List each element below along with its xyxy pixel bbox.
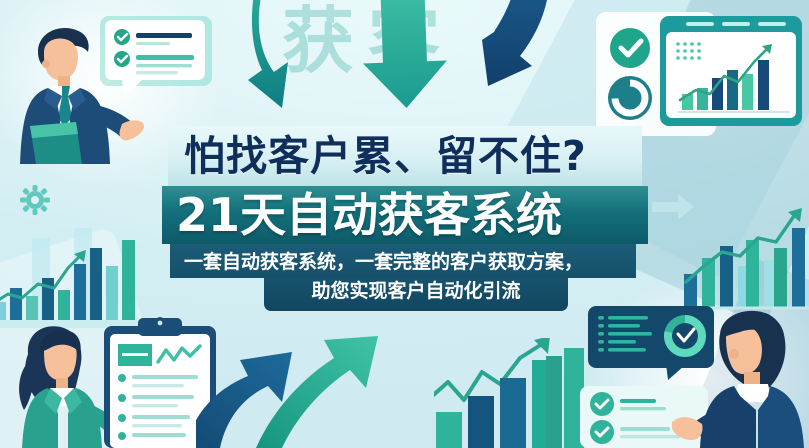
left-bar-chart (0, 200, 142, 330)
headline-band-question: 怕找客户累、留不住? (168, 126, 642, 186)
headline-band-main: 21天自动获客系统 (162, 186, 648, 244)
downward-arrows (230, 0, 560, 125)
subtitle-line-1: 一套自动获客系统，一套完整的客户获取方案， (180, 250, 626, 274)
subtitle-band-1: 一套自动获客系统，一套完整的客户获取方案， (170, 244, 636, 278)
businessman-back-illustration (672, 304, 809, 448)
subtitle-line-2: 助您实现客户自动化引流 (311, 280, 520, 304)
accent-bar (546, 356, 562, 448)
subtitle-band-2: 助您实现客户自动化引流 (264, 278, 568, 311)
right-arrow-icon (652, 190, 696, 224)
checklist-speech-bubble (98, 14, 214, 94)
promotional-poster: 获客 (0, 0, 809, 448)
headline-block: 怕找客户累、留不住? 21天自动获客系统 一套自动获客系统，一套完整的客户获取方… (168, 126, 642, 311)
headline-line-1: 怕找客户累、留不住? (184, 136, 587, 177)
upward-arrows (196, 320, 446, 448)
headline-line-2: 21天自动获客系统 (176, 192, 562, 238)
right-bar-chart (682, 186, 809, 316)
